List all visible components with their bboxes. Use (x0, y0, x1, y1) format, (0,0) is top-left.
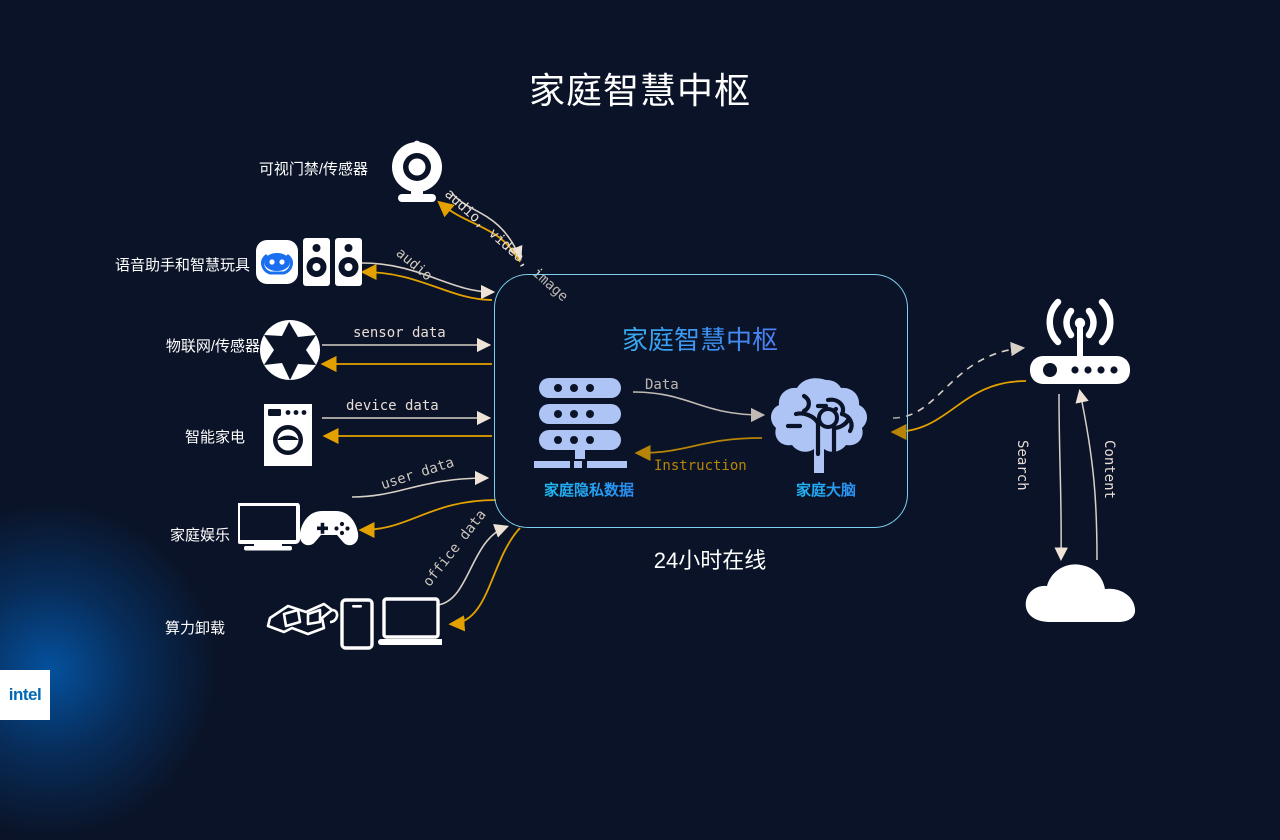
hub-storage-label: 家庭隐私数据 (514, 479, 664, 500)
hub-title: 家庭智慧中枢 (494, 320, 906, 357)
edge-router-to-hub (894, 381, 1026, 432)
node-label-smart-appliance: 智能家电 (105, 426, 245, 447)
ar-glasses-phone-laptop-icon[interactable] (262, 596, 442, 650)
voice-assistant-speaker-icon[interactable] (256, 236, 364, 288)
node-label-door-camera: 可视门禁/传感器 (188, 158, 368, 179)
edge-label-device-data: device data (346, 398, 439, 414)
edge-label-content: Content (1101, 440, 1117, 499)
intel-logo-text: intel (9, 685, 41, 705)
tv-gamepad-icon[interactable] (238, 503, 360, 551)
aperture-sensor-icon[interactable] (258, 318, 322, 382)
intel-logo: intel (0, 670, 50, 720)
server-storage-icon (534, 376, 634, 471)
webcam-icon[interactable] (386, 136, 448, 204)
edge-label-sensor-data: sensor data (353, 325, 446, 341)
cloud-icon[interactable] (1022, 558, 1140, 626)
brain-icon (766, 376, 886, 476)
edge-router-to-cloud-search (1059, 394, 1061, 558)
washing-machine-icon[interactable] (264, 404, 312, 466)
diagram-canvas: 家庭智慧中枢 (0, 0, 1280, 720)
node-label-home-entertainment: 家庭娱乐 (90, 524, 230, 545)
hub-brain-label: 家庭大脑 (766, 479, 886, 500)
always-on-note: 24小时在线 (560, 543, 860, 575)
router-icon[interactable] (1024, 294, 1136, 392)
node-label-voice-assistant: 语音助手和智慧玩具 (70, 254, 250, 275)
node-label-compute-offload: 算力卸载 (115, 617, 225, 638)
node-label-iot-sensor: 物联网/传感器 (80, 335, 260, 356)
edge-label-search: Search (1014, 440, 1030, 491)
edge-cloud-to-router-content (1080, 392, 1097, 560)
